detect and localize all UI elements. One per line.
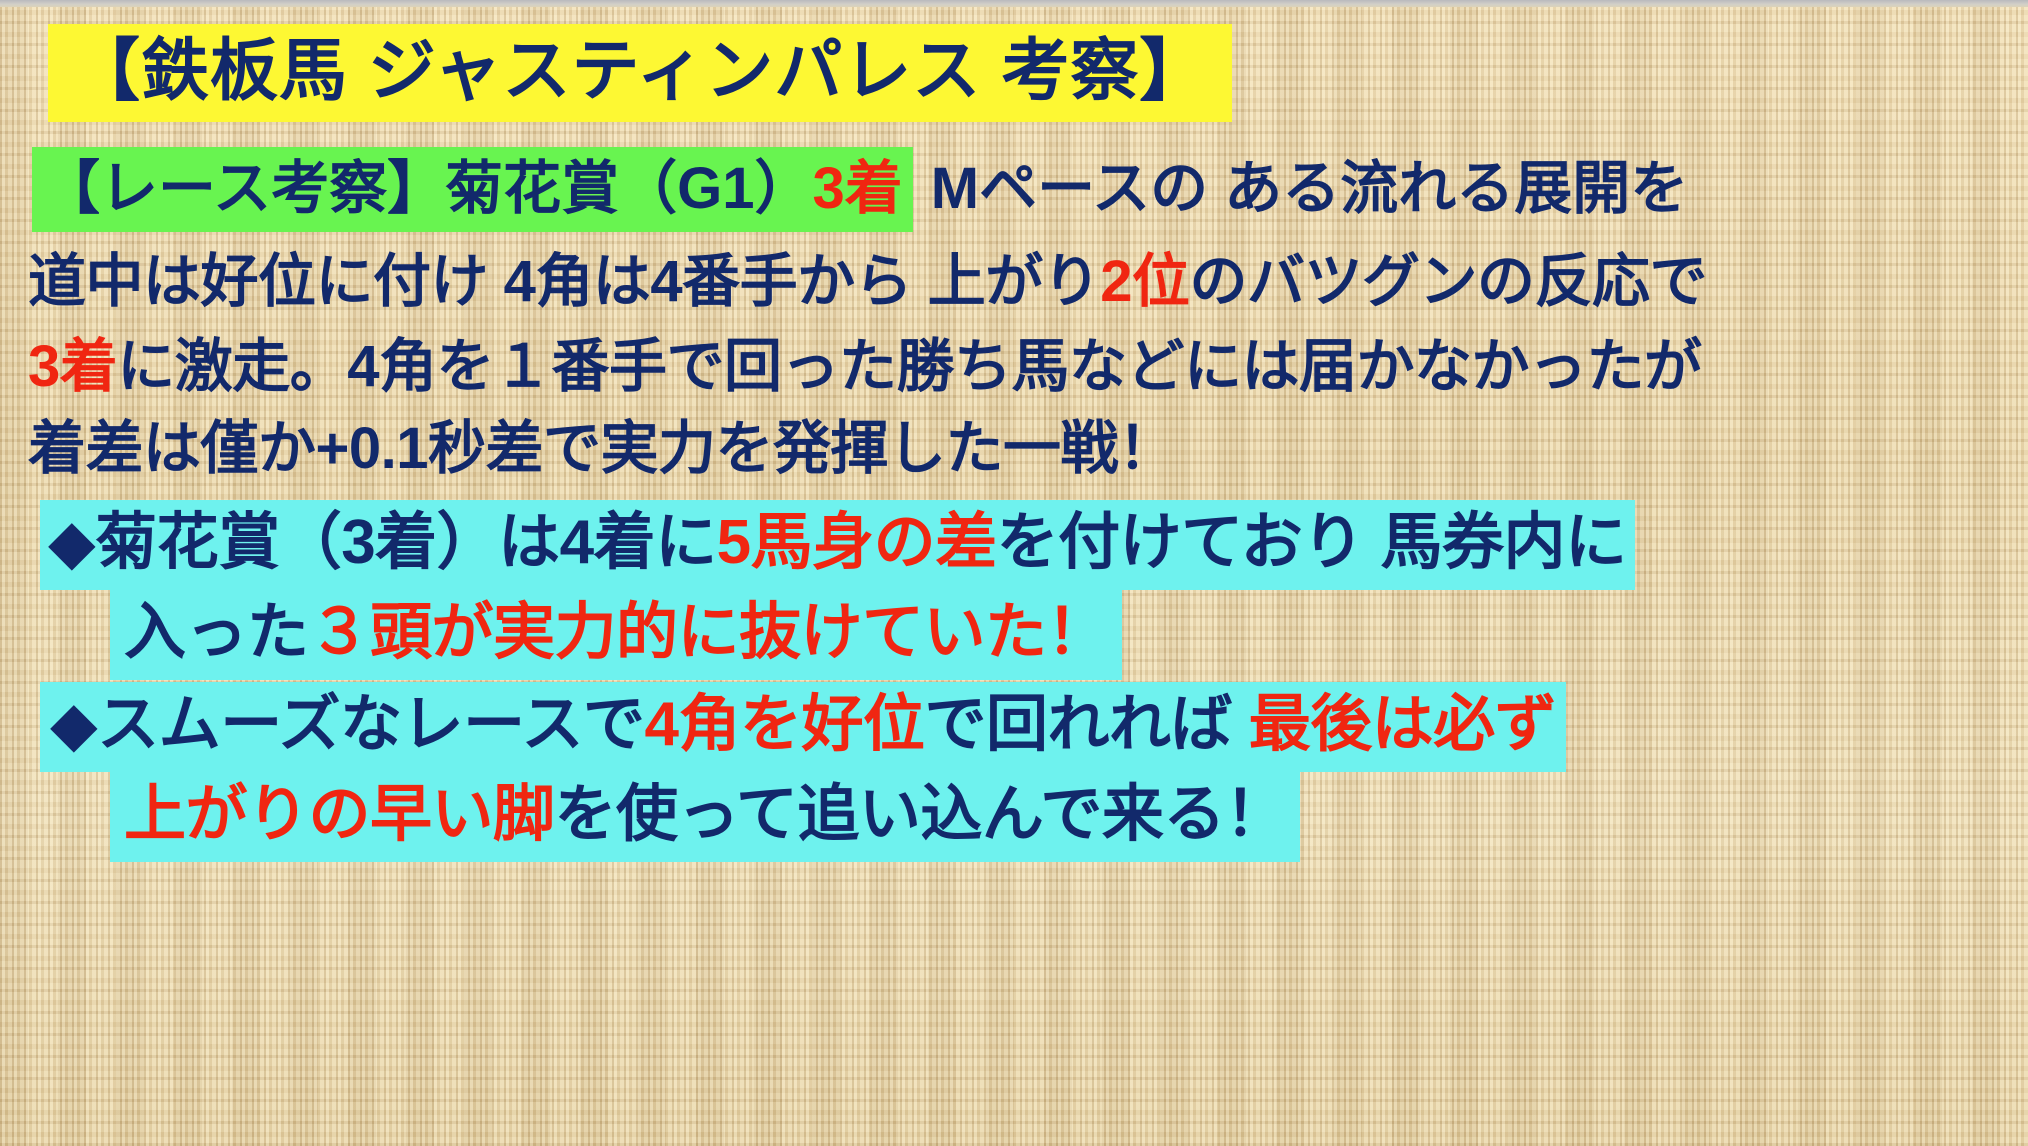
key-point-4-part2: を使って追い込んで来る！ (555, 780, 1287, 849)
key-point-2-emphasis: ３頭が実力的に抜けていた！ (309, 598, 1109, 667)
key-point-3-corner: 4角を好位 (645, 690, 925, 759)
race-review-highlight: 【レース考察】菊花賞（G1）3着 (32, 147, 913, 232)
slide-content: 【鉄板馬 ジャスティンパレス 考察】 【レース考察】菊花賞（G1）3着Mペースの… (0, 0, 2028, 1146)
key-point-1-part1: 菊花賞（3着）は4着に (95, 508, 716, 577)
key-point-3-emphasis: 最後は必ず (1249, 690, 1557, 759)
key-point-3-part2: で回れれば (924, 690, 1248, 759)
race-review-line-2-part2: のバツグンの反応で (1190, 249, 1708, 314)
page-title: 【鉄板馬 ジャスティンパレス 考察】 (48, 24, 1232, 122)
race-review-line-2-part1: 道中は好位に付け 4角は4番手から 上がり (28, 249, 1100, 314)
race-review-line-4: 着差は僅か+0.1秒差で実力を発揮した一戦！ (28, 412, 1176, 488)
key-point-2-continued: 上がりの早い脚を使って追い込んで来る！ (110, 772, 1300, 862)
race-review-line-3-part1: に激走。4角を１番手で回った勝ち馬などには届かなかったが (117, 334, 1701, 399)
key-point-3-part1: スムーズなレースで (97, 690, 644, 759)
race-review-line-1: 【レース考察】菊花賞（G1）3着Mペースの ある流れる展開を (32, 160, 1688, 218)
slide-canvas: 【鉄板馬 ジャスティンパレス 考察】 【レース考察】菊花賞（G1）3着Mペースの… (0, 0, 2028, 1146)
page-title-text: 【鉄板馬 ジャスティンパレス 考察】 (72, 33, 1208, 109)
race-review-line-1-tail: Mペースの ある流れる展開を (913, 156, 1689, 221)
key-point-2-part1: 入った (124, 598, 309, 667)
key-point-1-continued: 入った３頭が実力的に抜けていた！ (110, 590, 1122, 680)
race-review-line-2: 道中は好位に付け 4角は4番手から 上がり2位のバツグンの反応で (28, 245, 1707, 321)
key-point-1-part2: を付けており 馬券内に (997, 508, 1627, 577)
race-review-line-3: 3着に激走。4角を１番手で回った勝ち馬などには届かなかったが (28, 330, 1702, 406)
race-review-line-3-finish: 3着 (28, 334, 117, 399)
race-review-margin-text: 着差は僅か+0.1秒差で実力を発揮した一戦！ (28, 416, 1176, 481)
bullet-diamond-icon-2: ◆ (50, 690, 97, 759)
race-review-label: 【レース考察】菊花賞（G1） (42, 156, 812, 221)
key-point-1-margin: 5馬身の差 (717, 508, 997, 577)
bullet-diamond-icon: ◆ (48, 508, 95, 577)
key-point-4-emphasis: 上がりの早い脚 (124, 780, 555, 849)
key-point-2: ◆スムーズなレースで4角を好位で回れれば 最後は必ず (40, 682, 1566, 772)
key-point-1: ◆菊花賞（3着）は4着に5馬身の差を付けており 馬券内に (40, 500, 1635, 590)
race-review-finish-position: 3着 (812, 156, 902, 221)
race-review-agari-rank: 2位 (1100, 249, 1189, 314)
